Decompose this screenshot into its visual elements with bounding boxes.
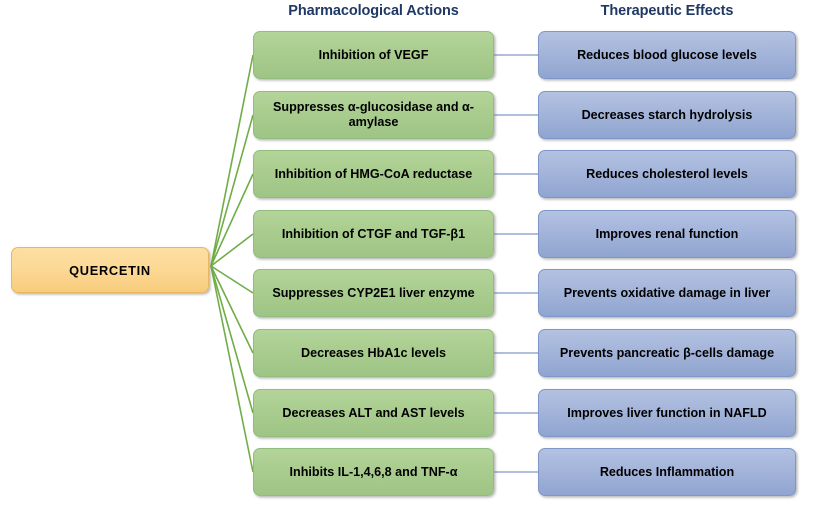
- action-node-label: Inhibition of CTGF and TGF-β1: [282, 227, 465, 242]
- effect-node[interactable]: Reduces cholesterol levels: [538, 150, 796, 198]
- effect-node-label: Decreases starch hydrolysis: [582, 108, 753, 123]
- action-node[interactable]: Suppresses α-glucosidase and α-amylase: [253, 91, 494, 139]
- action-node[interactable]: Suppresses CYP2E1 liver enzyme: [253, 269, 494, 317]
- effect-node[interactable]: Reduces Inflammation: [538, 448, 796, 496]
- effect-node[interactable]: Decreases starch hydrolysis: [538, 91, 796, 139]
- effect-node[interactable]: Improves renal function: [538, 210, 796, 258]
- action-node[interactable]: Inhibition of VEGF: [253, 31, 494, 79]
- effect-node-label: Improves renal function: [596, 227, 739, 242]
- action-node[interactable]: Inhibition of HMG-CoA reductase: [253, 150, 494, 198]
- column-header-therapeutic-effects: Therapeutic Effects: [538, 2, 796, 20]
- root-to-action-connector: [211, 266, 253, 353]
- effect-node[interactable]: Improves liver function in NAFLD: [538, 389, 796, 437]
- action-node-label: Inhibition of HMG-CoA reductase: [275, 167, 473, 182]
- action-node-label: Inhibition of VEGF: [319, 48, 429, 63]
- root-node-quercetin[interactable]: QUERCETIN: [11, 247, 209, 293]
- action-node[interactable]: Inhibits IL-1,4,6,8 and TNF-α: [253, 448, 494, 496]
- action-node-label: Suppresses α-glucosidase and α-amylase: [260, 100, 487, 130]
- effect-node-label: Improves liver function in NAFLD: [567, 406, 766, 421]
- effect-node[interactable]: Prevents pancreatic β-cells damage: [538, 329, 796, 377]
- column-header-pharmacological-actions: Pharmacological Actions: [253, 2, 494, 20]
- effect-node-label: Prevents pancreatic β-cells damage: [560, 346, 774, 361]
- root-to-action-connector: [211, 115, 253, 266]
- action-node-label: Decreases HbA1c levels: [301, 346, 446, 361]
- effect-node-label: Reduces blood glucose levels: [577, 48, 757, 63]
- root-node-label: QUERCETIN: [69, 263, 151, 278]
- action-node-label: Decreases ALT and AST levels: [282, 406, 464, 421]
- root-to-action-connector: [211, 55, 253, 266]
- effect-node[interactable]: Reduces blood glucose levels: [538, 31, 796, 79]
- action-node[interactable]: Decreases ALT and AST levels: [253, 389, 494, 437]
- effect-node-label: Reduces Inflammation: [600, 465, 734, 480]
- action-node-label: Suppresses CYP2E1 liver enzyme: [272, 286, 474, 301]
- root-to-action-connector: [211, 174, 253, 266]
- action-node[interactable]: Decreases HbA1c levels: [253, 329, 494, 377]
- root-to-action-connector: [211, 234, 253, 266]
- effect-node[interactable]: Prevents oxidative damage in liver: [538, 269, 796, 317]
- action-node-label: Inhibits IL-1,4,6,8 and TNF-α: [290, 465, 458, 480]
- root-to-action-connector: [211, 266, 253, 413]
- root-to-action-connector: [211, 266, 253, 472]
- effect-node-label: Prevents oxidative damage in liver: [564, 286, 771, 301]
- root-to-action-connector: [211, 266, 253, 293]
- diagram-canvas: Pharmacological Actions Therapeutic Effe…: [0, 0, 830, 507]
- action-node[interactable]: Inhibition of CTGF and TGF-β1: [253, 210, 494, 258]
- effect-node-label: Reduces cholesterol levels: [586, 167, 748, 182]
